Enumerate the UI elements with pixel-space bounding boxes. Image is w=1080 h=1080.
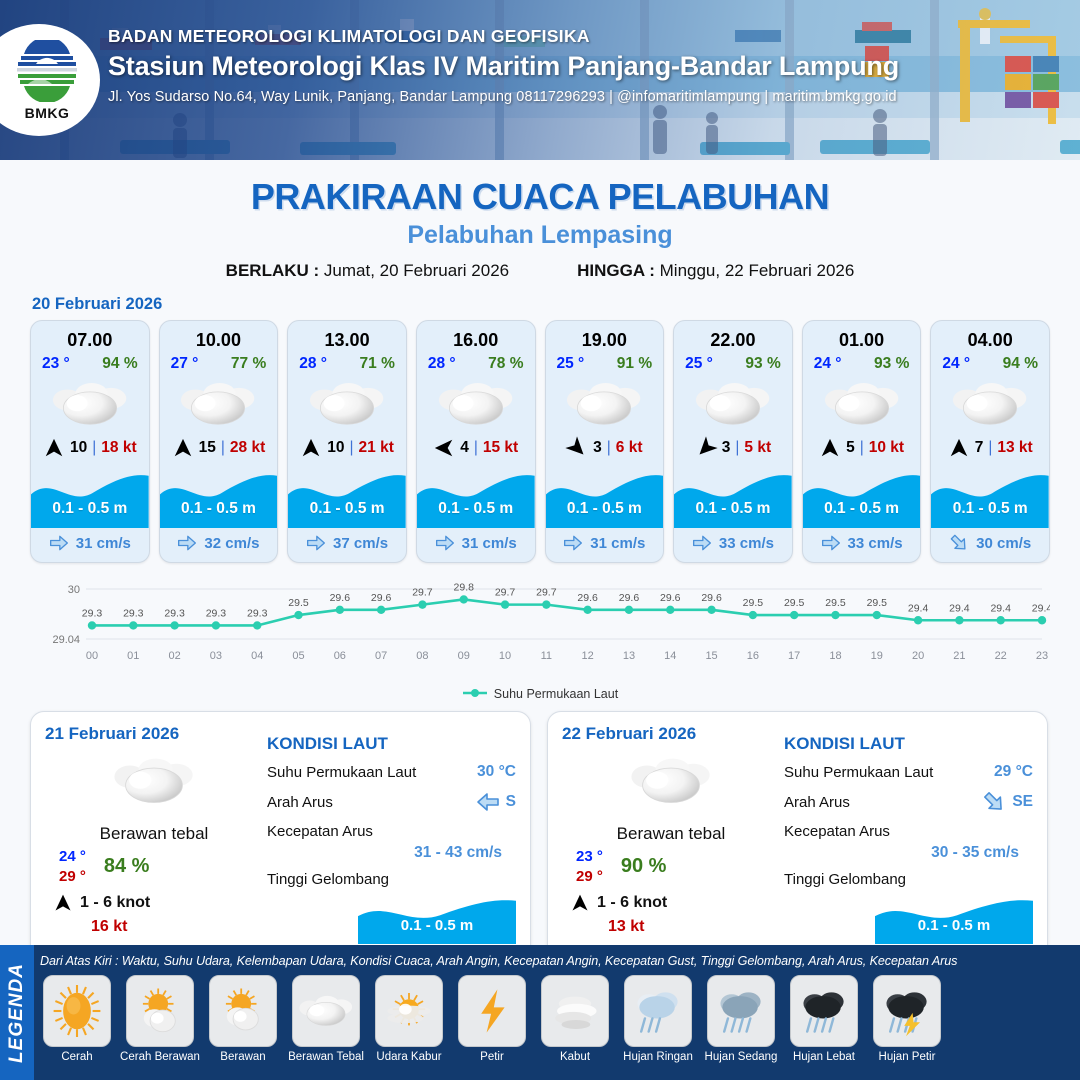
legend-item-label: Hujan Petir xyxy=(879,1051,936,1063)
wave-shape-icon xyxy=(288,470,406,528)
card-wave-height: 0.1 - 0.5 m xyxy=(546,500,664,518)
wave-label: Tinggi Gelombang xyxy=(784,871,906,888)
legend-icon-box xyxy=(541,975,609,1047)
daily-wave-value: 0.1 - 0.5 m xyxy=(875,917,1033,934)
card-current-speed: 33 cm/s xyxy=(848,535,903,552)
valid-from-value: Jumat, 20 Februari 2026 xyxy=(324,261,509,280)
card-current: 33 cm/s xyxy=(674,533,792,553)
card-wind-speed: 7 xyxy=(975,439,984,457)
legend-item: Udara Kabur xyxy=(370,975,448,1063)
svg-text:18: 18 xyxy=(829,650,841,662)
legend-item: Hujan Sedang xyxy=(702,975,780,1063)
card-wind: 3 | 5 kt xyxy=(674,437,792,459)
svg-text:29.6: 29.6 xyxy=(577,592,598,604)
station-name: Stasiun Meteorologi Klas IV Maritim Panj… xyxy=(108,51,899,82)
current-speed-value: 31 - 43 cm/s xyxy=(267,844,516,862)
legend-icon-box xyxy=(458,975,526,1047)
legend-marker-icon xyxy=(462,687,488,701)
wind-direction-arrow-icon xyxy=(819,437,841,459)
card-wind: 10 | 21 kt xyxy=(288,437,406,459)
agency-name: BADAN METEOROLOGI KLIMATOLOGI DAN GEOFIS… xyxy=(108,26,899,47)
lightning-icon xyxy=(465,984,519,1038)
valid-from: BERLAKU : Jumat, 20 Februari 2026 xyxy=(226,261,509,281)
card-wave-graphic xyxy=(288,470,406,528)
legend-item: Cerah Berawan xyxy=(121,975,199,1063)
card-wind-speed: 15 xyxy=(199,439,216,457)
card-wind-separator: | xyxy=(474,439,478,457)
svg-text:29.3: 29.3 xyxy=(206,607,227,619)
sun-cloud-icon xyxy=(133,984,187,1038)
haze-icon xyxy=(382,984,436,1038)
legend-sidebar-label: LEGENDA xyxy=(6,963,28,1063)
card-humidity: 91 % xyxy=(617,355,652,373)
sst-value: 30 °C xyxy=(477,763,516,781)
card-time: 22.00 xyxy=(710,330,755,351)
daily-weather-icon xyxy=(45,750,263,812)
daily-condition: Berawan tebal xyxy=(562,824,780,844)
svg-text:29.7: 29.7 xyxy=(412,587,433,599)
hourly-forecast-card: 16.00 28 ° 78 % 4 | 15 kt 0.1 - xyxy=(416,320,536,563)
legend-item: Hujan Petir xyxy=(868,975,946,1063)
svg-text:01: 01 xyxy=(127,650,139,662)
legend-item-label: Udara Kabur xyxy=(376,1051,441,1063)
wind-direction-arrow-icon xyxy=(570,893,590,913)
bmkg-emblem-icon xyxy=(14,40,80,102)
svg-text:29.3: 29.3 xyxy=(247,607,268,619)
card-current: 31 cm/s xyxy=(546,533,664,553)
rain-icon xyxy=(713,983,769,1039)
hourly-forecast-card: 07.00 23 ° 94 % 10 | 18 kt 0.1 - xyxy=(30,320,150,563)
card-wind-separator: | xyxy=(350,439,354,457)
current-direction-arrow-icon xyxy=(821,533,841,553)
daily-forecast-panels: 21 Februari 2026 Berawan tebal 24 ° 29 °… xyxy=(0,711,1080,961)
svg-text:29.6: 29.6 xyxy=(330,592,351,604)
wave-label: Tinggi Gelombang xyxy=(267,871,389,888)
sea-condition-title: KONDISI LAUT xyxy=(784,734,1033,754)
card-wave-graphic xyxy=(546,470,664,528)
daily-date: 21 Februari 2026 xyxy=(45,724,263,744)
wind-direction-arrow-icon xyxy=(433,437,455,459)
sst-chart: 3029.0429.30029.30129.30229.30329.30429.… xyxy=(30,577,1050,689)
card-wind-separator: | xyxy=(988,439,992,457)
daily-panel-left: 21 Februari 2026 Berawan tebal 24 ° 29 °… xyxy=(45,724,263,948)
svg-text:29.4: 29.4 xyxy=(908,602,929,614)
card-wind-speed: 3 xyxy=(722,439,731,457)
hourly-date-label: 20 Februari 2026 xyxy=(32,295,1080,314)
sst-chart-canvas: 3029.0429.30029.30129.30229.30329.30429.… xyxy=(30,577,1050,689)
svg-text:29.7: 29.7 xyxy=(536,587,557,599)
daily-wind: 1 - 6 knot xyxy=(45,893,263,913)
card-wind-speed: 10 xyxy=(70,439,87,457)
wind-direction-arrow-icon xyxy=(43,437,65,459)
daily-panel-left: 22 Februari 2026 Berawan tebal 23 ° 29 °… xyxy=(562,724,780,948)
current-direction-arrow-icon xyxy=(49,533,69,553)
legend-item-label: Cerah Berawan xyxy=(120,1051,200,1063)
hourly-forecast-card: 19.00 25 ° 91 % 3 | 6 kt 0.1 - 0 xyxy=(545,320,665,563)
card-current: 33 cm/s xyxy=(803,533,921,553)
sst-row: Suhu Permukaan Laut 30 °C xyxy=(267,763,516,781)
wave-shape-icon xyxy=(417,470,535,528)
sst-row: Suhu Permukaan Laut 29 °C xyxy=(784,763,1033,781)
daily-temp-max: 29 ° xyxy=(59,868,86,885)
current-direction-arrow-icon xyxy=(476,790,500,814)
card-wave-height: 0.1 - 0.5 m xyxy=(417,500,535,518)
daily-panel-right: KONDISI LAUT Suhu Permukaan Laut 29 °C A… xyxy=(780,724,1033,948)
legend-item: Berawan xyxy=(204,975,282,1063)
current-direction-arrow-icon xyxy=(692,533,712,553)
card-wave-height: 0.1 - 0.5 m xyxy=(931,500,1049,518)
contact-info: Jl. Yos Sudarso No.64, Way Lunik, Panjan… xyxy=(108,89,899,105)
current-direction-arrow-icon xyxy=(977,785,1011,819)
card-temperature: 28 ° xyxy=(299,355,327,373)
svg-text:09: 09 xyxy=(458,650,470,662)
card-gust: 5 kt xyxy=(744,439,771,457)
svg-text:29.4: 29.4 xyxy=(990,602,1011,614)
card-current: 30 cm/s xyxy=(931,533,1049,553)
page-header: BMKG BADAN METEOROLOGI KLIMATOLOGI DAN G… xyxy=(0,0,1080,160)
daily-panel-right: KONDISI LAUT Suhu Permukaan Laut 30 °C A… xyxy=(263,724,516,948)
current-speed-value: 30 - 35 cm/s xyxy=(784,844,1033,862)
current-direction-label: Arah Arus xyxy=(784,794,850,811)
svg-text:29.4: 29.4 xyxy=(949,602,970,614)
card-gust: 18 kt xyxy=(101,439,136,457)
legend-item: Hujan Lebat xyxy=(785,975,863,1063)
card-current: 32 cm/s xyxy=(160,533,278,553)
card-weather-icon xyxy=(563,377,645,431)
card-wave-height: 0.1 - 0.5 m xyxy=(31,500,149,518)
current-direction-row: Arah Arus SE xyxy=(784,790,1033,814)
legend-note: Dari Atas Kiri : Waktu, Suhu Udara, Kele… xyxy=(40,954,1076,968)
legend-icon-box xyxy=(624,975,692,1047)
validity-row: BERLAKU : Jumat, 20 Februari 2026 HINGGA… xyxy=(0,261,1080,281)
card-wave-height: 0.1 - 0.5 m xyxy=(288,500,406,518)
card-current-speed: 30 cm/s xyxy=(976,535,1031,552)
wind-direction-arrow-icon xyxy=(53,893,73,913)
legend-icon-box xyxy=(43,975,111,1047)
svg-text:29.8: 29.8 xyxy=(454,581,475,593)
svg-text:23: 23 xyxy=(1036,650,1048,662)
title-block: PRAKIRAAN CUACA PELABUHAN Pelabuhan Lemp… xyxy=(0,176,1080,281)
legend-item-label: Hujan Lebat xyxy=(793,1051,855,1063)
current-direction-arrow-icon xyxy=(435,533,455,553)
card-time: 01.00 xyxy=(839,330,884,351)
card-humidity: 93 % xyxy=(745,355,780,373)
card-wind: 7 | 13 kt xyxy=(931,437,1049,459)
card-temperature: 28 ° xyxy=(428,355,456,373)
card-wind-separator: | xyxy=(607,439,611,457)
card-wave-graphic xyxy=(31,470,149,528)
svg-text:30: 30 xyxy=(68,584,80,596)
card-temperature: 24 ° xyxy=(814,355,842,373)
chart-legend: Suhu Permukaan Laut xyxy=(0,687,1080,701)
hourly-forecast-card: 04.00 24 ° 94 % 7 | 13 kt 0.1 - xyxy=(930,320,1050,563)
svg-text:08: 08 xyxy=(416,650,428,662)
card-wave-graphic xyxy=(803,470,921,528)
card-wind-speed: 3 xyxy=(593,439,602,457)
svg-text:29.4: 29.4 xyxy=(1032,602,1050,614)
daily-weather-icon xyxy=(562,750,780,812)
svg-text:29.5: 29.5 xyxy=(784,597,805,609)
thick-cloud-icon xyxy=(177,379,259,429)
svg-text:15: 15 xyxy=(705,650,717,662)
card-temperature: 24 ° xyxy=(942,355,970,373)
daily-forecast-panel: 21 Februari 2026 Berawan tebal 24 ° 29 °… xyxy=(30,711,531,961)
current-direction-arrow-icon xyxy=(563,533,583,553)
current-direction-arrow-icon xyxy=(945,529,973,557)
wave-shape-icon xyxy=(31,470,149,528)
daily-forecast-panel: 22 Februari 2026 Berawan tebal 23 ° 29 °… xyxy=(547,711,1048,961)
legend-item: Cerah xyxy=(38,975,116,1063)
page-title: PRAKIRAAN CUACA PELABUHAN xyxy=(0,176,1080,218)
current-speed-label: Kecepatan Arus xyxy=(784,823,890,840)
daily-gust: 13 kt xyxy=(562,918,780,936)
card-wind-separator: | xyxy=(92,439,96,457)
wind-direction-arrow-icon xyxy=(562,432,593,463)
hourly-forecast-card: 01.00 24 ° 93 % 5 | 10 kt 0.1 - xyxy=(802,320,922,563)
legend-item: Hujan Ringan xyxy=(619,975,697,1063)
legend-item-label: Kabut xyxy=(560,1051,590,1063)
current-speed-label: Kecepatan Arus xyxy=(267,823,373,840)
wind-direction-arrow-icon xyxy=(172,437,194,459)
legend-item-label: Cerah xyxy=(61,1051,92,1063)
hourly-forecast-card: 10.00 27 ° 77 % 15 | 28 kt 0.1 - xyxy=(159,320,279,563)
card-current: 31 cm/s xyxy=(417,533,535,553)
card-gust: 13 kt xyxy=(997,439,1032,457)
sst-label: Suhu Permukaan Laut xyxy=(784,764,933,781)
daily-wind-range: 1 - 6 knot xyxy=(80,894,150,912)
card-time: 07.00 xyxy=(67,330,112,351)
thick-cloud-icon xyxy=(563,379,645,429)
svg-text:29.6: 29.6 xyxy=(371,592,392,604)
card-current-speed: 31 cm/s xyxy=(76,535,131,552)
svg-text:10: 10 xyxy=(499,650,511,662)
svg-text:06: 06 xyxy=(334,650,346,662)
current-speed-row: Kecepatan Arus xyxy=(784,823,1033,840)
svg-text:16: 16 xyxy=(747,650,759,662)
current-direction-value-group: SE xyxy=(982,790,1033,814)
svg-text:12: 12 xyxy=(582,650,594,662)
wave-shape-icon xyxy=(546,470,664,528)
legend-icon-box xyxy=(873,975,941,1047)
current-direction-arrow-icon xyxy=(177,533,197,553)
card-humidity: 77 % xyxy=(231,355,266,373)
card-current: 37 cm/s xyxy=(288,533,406,553)
card-temperature: 25 ° xyxy=(685,355,713,373)
wind-direction-arrow-icon xyxy=(690,432,721,463)
thick-cloud-icon xyxy=(949,379,1031,429)
card-weather-icon xyxy=(821,377,903,431)
card-wind-speed: 4 xyxy=(460,439,469,457)
daily-date: 22 Februari 2026 xyxy=(562,724,780,744)
current-direction-value: SE xyxy=(1012,793,1033,811)
current-direction-label: Arah Arus xyxy=(267,794,333,811)
legend-section: LEGENDA Dari Atas Kiri : Waktu, Suhu Uda… xyxy=(0,945,1080,1080)
chart-legend-label: Suhu Permukaan Laut xyxy=(494,687,618,701)
wave-row: Tinggi Gelombang xyxy=(267,871,516,888)
svg-text:29.5: 29.5 xyxy=(743,597,764,609)
svg-text:29.3: 29.3 xyxy=(123,607,144,619)
svg-text:05: 05 xyxy=(292,650,304,662)
wave-shape-icon xyxy=(160,470,278,528)
daily-temp-min: 23 ° xyxy=(576,848,603,865)
valid-to-value: Minggu, 22 Februari 2026 xyxy=(660,261,855,280)
card-wind: 10 | 18 kt xyxy=(31,437,149,459)
card-wind-separator: | xyxy=(735,439,739,457)
wind-direction-arrow-icon xyxy=(300,437,322,459)
svg-text:29.6: 29.6 xyxy=(619,592,640,604)
daily-gust: 16 kt xyxy=(45,918,263,936)
svg-text:22: 22 xyxy=(995,650,1007,662)
valid-to: HINGGA : Minggu, 22 Februari 2026 xyxy=(577,261,854,281)
card-humidity: 71 % xyxy=(360,355,395,373)
card-current-speed: 32 cm/s xyxy=(204,535,259,552)
card-wave-graphic xyxy=(931,470,1049,528)
sst-value: 29 °C xyxy=(994,763,1033,781)
daily-temp-min: 24 ° xyxy=(59,848,86,865)
valid-from-label: BERLAKU : xyxy=(226,261,320,280)
legend-sidebar: LEGENDA xyxy=(0,945,34,1080)
card-wave-height: 0.1 - 0.5 m xyxy=(803,500,921,518)
thick-cloud-icon xyxy=(49,379,131,429)
svg-text:29.6: 29.6 xyxy=(660,592,681,604)
card-temperature: 25 ° xyxy=(557,355,585,373)
card-current-speed: 37 cm/s xyxy=(333,535,388,552)
card-wind-speed: 5 xyxy=(846,439,855,457)
legend-item-label: Berawan xyxy=(220,1051,265,1063)
current-direction-row: Arah Arus S xyxy=(267,790,516,814)
wind-direction-arrow-icon xyxy=(948,437,970,459)
thick-cloud-icon xyxy=(111,752,197,810)
thick-cloud-icon xyxy=(435,379,517,429)
sun-icon xyxy=(51,985,103,1037)
card-weather-icon xyxy=(177,377,259,431)
sst-label: Suhu Permukaan Laut xyxy=(267,764,416,781)
daily-wave-value: 0.1 - 0.5 m xyxy=(358,917,516,934)
card-time: 13.00 xyxy=(325,330,370,351)
legend-icon-box xyxy=(790,975,858,1047)
svg-text:29.7: 29.7 xyxy=(495,587,516,599)
legend-icon-box xyxy=(209,975,277,1047)
svg-text:03: 03 xyxy=(210,650,222,662)
card-wind: 4 | 15 kt xyxy=(417,437,535,459)
wave-row: Tinggi Gelombang xyxy=(784,871,1033,888)
card-wind: 15 | 28 kt xyxy=(160,437,278,459)
card-humidity: 93 % xyxy=(874,355,909,373)
thick-cloud-icon xyxy=(306,379,388,429)
daily-temp-humidity: 24 ° 29 ° 84 % xyxy=(45,848,263,885)
daily-humidity: 84 % xyxy=(104,855,150,878)
legend-item-label: Hujan Ringan xyxy=(623,1051,693,1063)
legend-icon-box xyxy=(292,975,360,1047)
hourly-forecast-row: 07.00 23 ° 94 % 10 | 18 kt 0.1 - xyxy=(0,320,1080,563)
hourly-forecast-card: 22.00 25 ° 93 % 3 | 5 kt 0.1 - 0 xyxy=(673,320,793,563)
svg-text:29.6: 29.6 xyxy=(701,592,722,604)
thick-cloud-icon xyxy=(821,379,903,429)
card-wind-separator: | xyxy=(860,439,864,457)
svg-text:21: 21 xyxy=(953,650,965,662)
sun-cloud-icon xyxy=(216,984,270,1038)
card-current-speed: 31 cm/s xyxy=(590,535,645,552)
rain-icon xyxy=(796,983,852,1039)
card-weather-icon xyxy=(435,377,517,431)
legend-items-row: Cerah Cerah Berawan Berawan xyxy=(38,975,1078,1063)
legend-item: Petir xyxy=(453,975,531,1063)
wave-shape-icon xyxy=(931,470,1049,528)
card-temperature: 27 ° xyxy=(171,355,199,373)
daily-temp-humidity: 23 ° 29 ° 90 % xyxy=(562,848,780,885)
svg-text:29.3: 29.3 xyxy=(164,607,185,619)
current-direction-value: S xyxy=(506,793,516,811)
svg-text:14: 14 xyxy=(664,650,676,662)
card-time: 19.00 xyxy=(582,330,627,351)
card-weather-icon xyxy=(692,377,774,431)
hourly-forecast-card: 13.00 28 ° 71 % 10 | 21 kt 0.1 - xyxy=(287,320,407,563)
card-wave-graphic xyxy=(674,470,792,528)
svg-text:02: 02 xyxy=(168,650,180,662)
daily-wind: 1 - 6 knot xyxy=(562,893,780,913)
legend-icon-box xyxy=(126,975,194,1047)
card-weather-icon xyxy=(306,377,388,431)
wave-shape-icon xyxy=(674,470,792,528)
svg-text:07: 07 xyxy=(375,650,387,662)
legend-item: Berawan Tebal xyxy=(287,975,365,1063)
svg-text:29.5: 29.5 xyxy=(867,597,888,609)
current-direction-arrow-icon xyxy=(306,533,326,553)
rain-icon xyxy=(630,983,686,1039)
svg-text:29.3: 29.3 xyxy=(82,607,103,619)
card-wave-graphic xyxy=(160,470,278,528)
card-wave-height: 0.1 - 0.5 m xyxy=(160,500,278,518)
thick-cloud-icon xyxy=(628,752,714,810)
bmkg-logo-text: BMKG xyxy=(14,105,80,121)
current-speed-row: Kecepatan Arus xyxy=(267,823,516,840)
daily-temp-max: 29 ° xyxy=(576,868,603,885)
card-temperature: 23 ° xyxy=(42,355,70,373)
svg-text:29.5: 29.5 xyxy=(825,597,846,609)
card-gust: 28 kt xyxy=(230,439,265,457)
card-time: 16.00 xyxy=(453,330,498,351)
daily-humidity: 90 % xyxy=(621,855,667,878)
card-current: 31 cm/s xyxy=(31,533,149,553)
legend-item-label: Hujan Sedang xyxy=(705,1051,778,1063)
card-weather-icon xyxy=(49,377,131,431)
current-direction-value-group: S xyxy=(476,790,516,814)
port-name: Pelabuhan Lempasing xyxy=(0,221,1080,250)
svg-text:04: 04 xyxy=(251,650,263,662)
card-humidity: 78 % xyxy=(488,355,523,373)
card-gust: 10 kt xyxy=(869,439,904,457)
legend-icon-box xyxy=(375,975,443,1047)
valid-to-label: HINGGA : xyxy=(577,261,655,280)
card-current-speed: 33 cm/s xyxy=(719,535,774,552)
svg-text:00: 00 xyxy=(86,650,98,662)
card-gust: 21 kt xyxy=(359,439,394,457)
card-wave-height: 0.1 - 0.5 m xyxy=(674,500,792,518)
card-gust: 15 kt xyxy=(483,439,518,457)
card-current-speed: 31 cm/s xyxy=(462,535,517,552)
svg-text:29.5: 29.5 xyxy=(288,597,309,609)
thick-cloud-icon xyxy=(692,379,774,429)
card-time: 10.00 xyxy=(196,330,241,351)
card-time: 04.00 xyxy=(968,330,1013,351)
svg-text:13: 13 xyxy=(623,650,635,662)
card-gust: 6 kt xyxy=(616,439,643,457)
card-weather-icon xyxy=(949,377,1031,431)
legend-icon-box xyxy=(707,975,775,1047)
card-wind: 5 | 10 kt xyxy=(803,437,921,459)
card-humidity: 94 % xyxy=(102,355,137,373)
svg-text:29.04: 29.04 xyxy=(52,634,80,646)
